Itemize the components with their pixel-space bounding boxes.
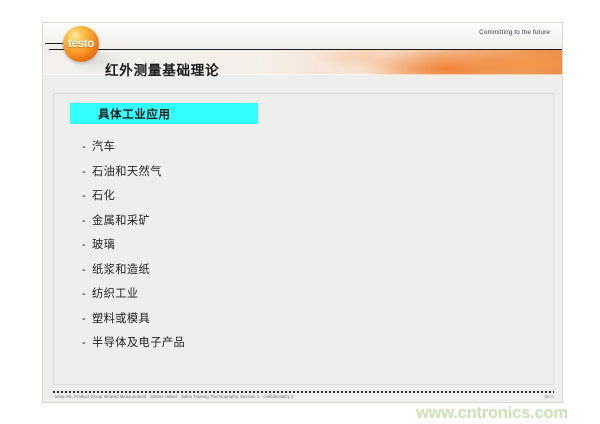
list-item-label: 玻璃 <box>92 236 115 252</box>
footer-text: testo AG, Product Group Infrared Measure… <box>55 394 294 399</box>
list-item: - 纸浆和造纸 <box>82 261 522 286</box>
list-item-label: 塑料或模具 <box>92 310 150 326</box>
bullet-list: - 汽车 - 石油和天然气 - 石化 - 金属和采矿 - 玻璃 - 纸浆和造纸 <box>82 138 522 359</box>
list-item: - 汽车 <box>82 138 522 163</box>
testo-logo: testo <box>63 26 99 62</box>
subtitle-text: 具体工业应用 <box>98 106 171 122</box>
footer-dotted-divider <box>53 391 554 393</box>
bullet-dash-icon: - <box>82 141 92 153</box>
list-item-label: 纸浆和造纸 <box>92 261 150 277</box>
list-item: - 石化 <box>82 187 522 212</box>
site-watermark: www.cntronics.com <box>416 404 568 423</box>
list-item-label: 汽车 <box>92 138 115 154</box>
slide-content-panel: 具体工业应用 - 汽车 - 石油和天然气 - 石化 - 金属和采矿 - 玻璃 <box>53 93 554 385</box>
list-item-label: 石油和天然气 <box>92 163 162 179</box>
header-tagline: Committing to the future <box>479 29 550 36</box>
logo-dash-rule <box>45 43 65 45</box>
bullet-dash-icon: - <box>82 215 92 227</box>
footer-page-number: 45/21 <box>544 394 554 399</box>
list-item: - 塑料或模具 <box>82 310 522 335</box>
list-item: - 纺织工业 <box>82 285 522 310</box>
bullet-dash-icon: - <box>82 239 92 251</box>
bullet-dash-icon: - <box>82 264 92 276</box>
bullet-dash-icon: - <box>82 337 92 349</box>
slide-title: 红外测量基础理论 <box>105 59 219 79</box>
list-item: - 半导体及电子产品 <box>82 334 522 359</box>
list-item-label: 石化 <box>92 187 115 203</box>
testo-logo-text: testo <box>63 26 99 62</box>
bullet-dash-icon: - <box>82 190 92 202</box>
list-item: - 玻璃 <box>82 236 522 261</box>
list-item-label: 金属和采矿 <box>92 212 150 228</box>
list-item-label: 纺织工业 <box>92 285 139 301</box>
slide-footer: testo AG, Product Group Infrared Measure… <box>55 394 554 399</box>
presentation-slide: Committing to the future testo 红外测量基础理论 … <box>42 22 563 403</box>
bullet-dash-icon: - <box>82 166 92 178</box>
bullet-dash-icon: - <box>82 288 92 300</box>
subtitle-highlight-bar: 具体工业应用 <box>70 103 258 124</box>
list-item: - 金属和采矿 <box>82 212 522 237</box>
list-item-label: 半导体及电子产品 <box>92 334 185 350</box>
bullet-dash-icon: - <box>82 313 92 325</box>
list-item: - 石油和天然气 <box>82 163 522 188</box>
